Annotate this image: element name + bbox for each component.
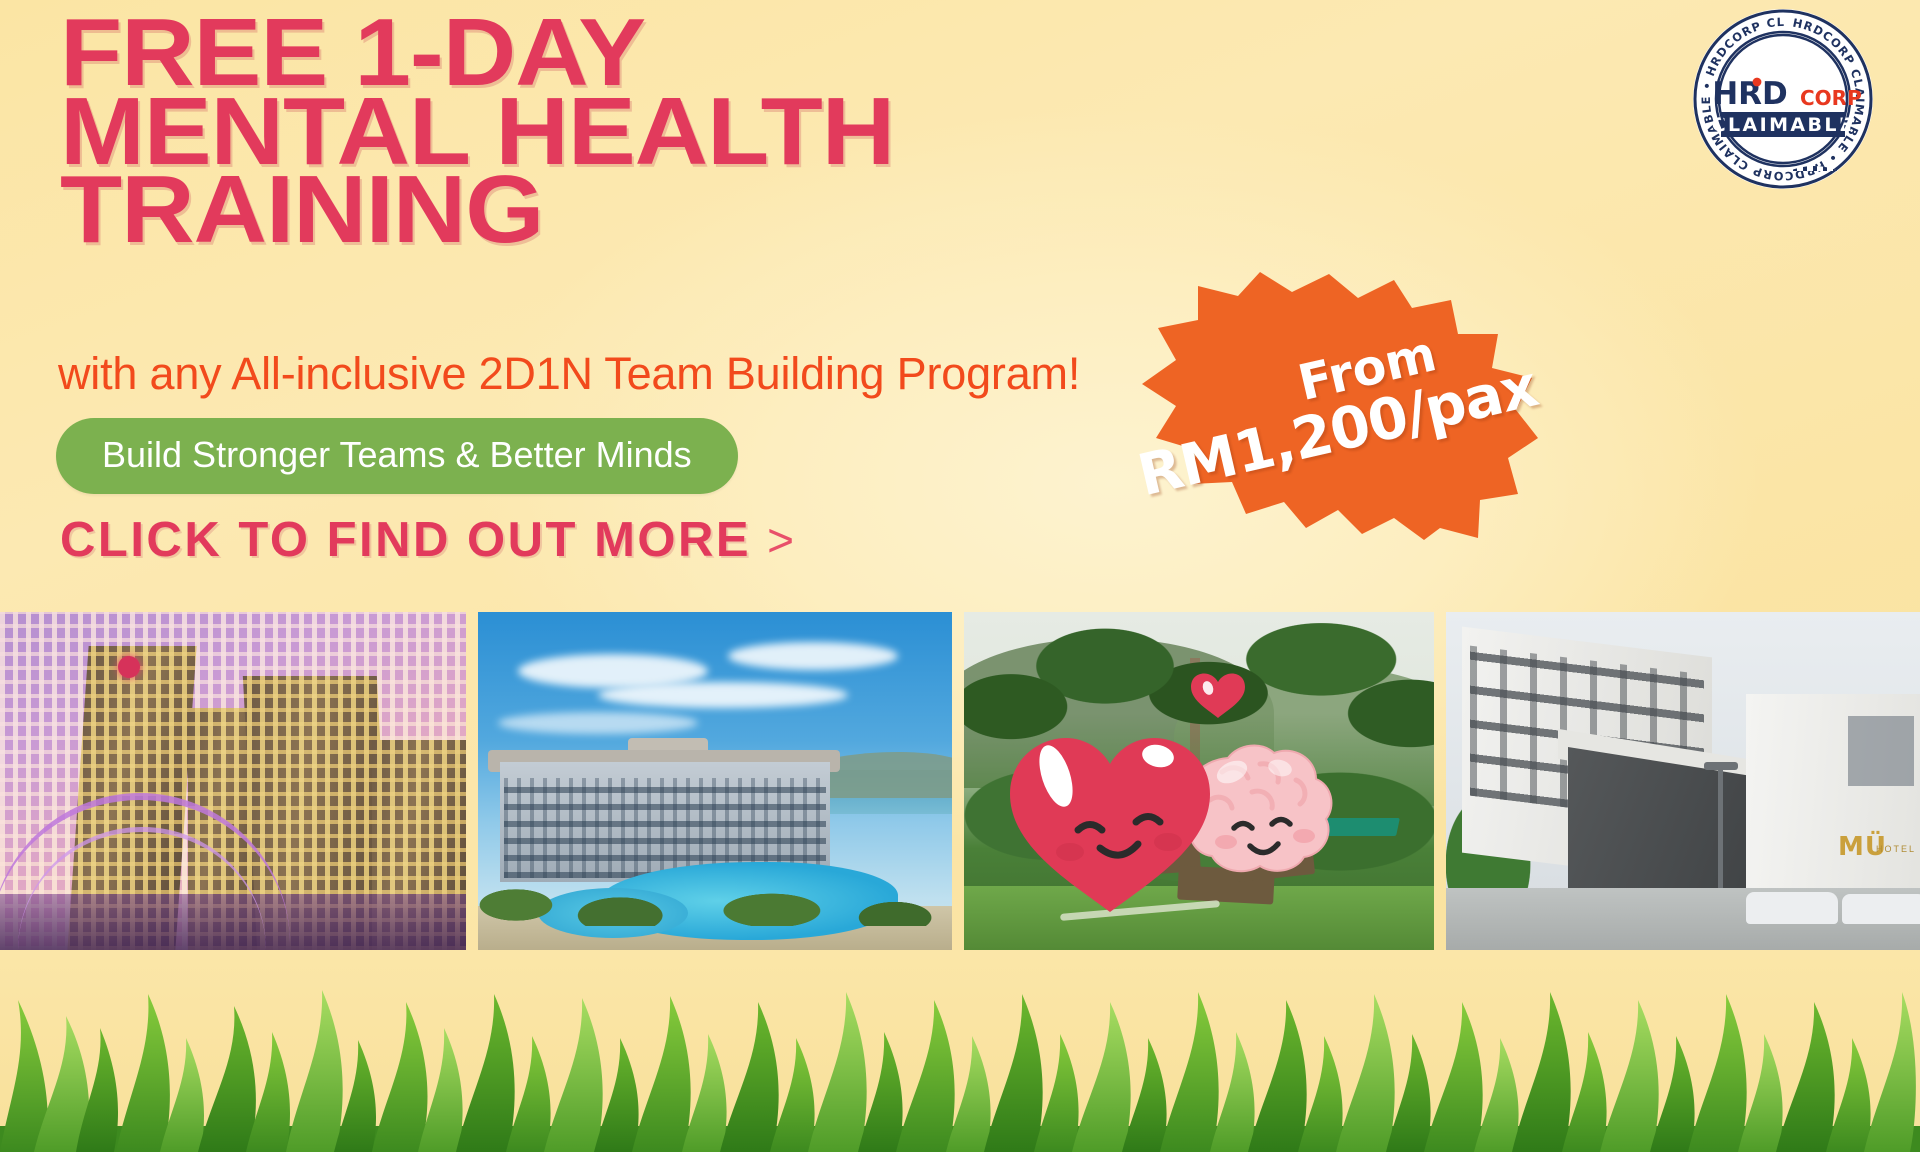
cta-link[interactable]: CLICK TO FIND OUT MORE >	[60, 512, 794, 568]
promo-banner: FREE 1-DAY MENTAL HEALTH TRAINING with a…	[0, 0, 1920, 1152]
cloud	[728, 642, 898, 670]
parked-car	[1842, 894, 1920, 924]
svg-text:CLAIMABLE: CLAIMABLE	[1712, 114, 1855, 136]
cta-label: CLICK TO FIND OUT MORE	[60, 512, 751, 568]
photo-modern-hotel: MÜ HOTEL	[1446, 612, 1920, 950]
hotel-brand-sub: HOTEL	[1876, 844, 1916, 854]
mascot-group	[960, 660, 1380, 920]
mini-heart-icon	[1191, 673, 1245, 718]
svg-text:CORP: CORP	[1800, 86, 1862, 110]
hrd-corp-claimable-seal: HRDCORP CLAIMABLE • HRDCORP CLAIMABLE • …	[1690, 6, 1876, 192]
palm-vegetation	[478, 856, 952, 926]
cloud	[498, 712, 698, 734]
chevron-right-icon: >	[767, 513, 794, 567]
photo-beach-resort-pool	[478, 612, 952, 950]
page-title: FREE 1-DAY MENTAL HEALTH TRAINING	[60, 14, 1120, 250]
parked-car	[1746, 892, 1838, 924]
price-badge: From RM1,200/pax	[1126, 272, 1538, 542]
photo-hotel-tower-dusk	[0, 612, 466, 950]
subtitle: with any All-inclusive 2D1N Team Buildin…	[58, 348, 1080, 400]
street-lamp-pole	[1718, 766, 1723, 906]
rooftop-logo-icon	[118, 656, 140, 678]
grass-band	[0, 976, 1920, 1152]
heart-character	[1010, 738, 1210, 912]
hotel-window-large	[1848, 716, 1914, 786]
svg-text:HRD: HRD	[1712, 76, 1788, 112]
cloud	[598, 682, 848, 708]
tagline-pill: Build Stronger Teams & Better Minds	[56, 418, 738, 494]
